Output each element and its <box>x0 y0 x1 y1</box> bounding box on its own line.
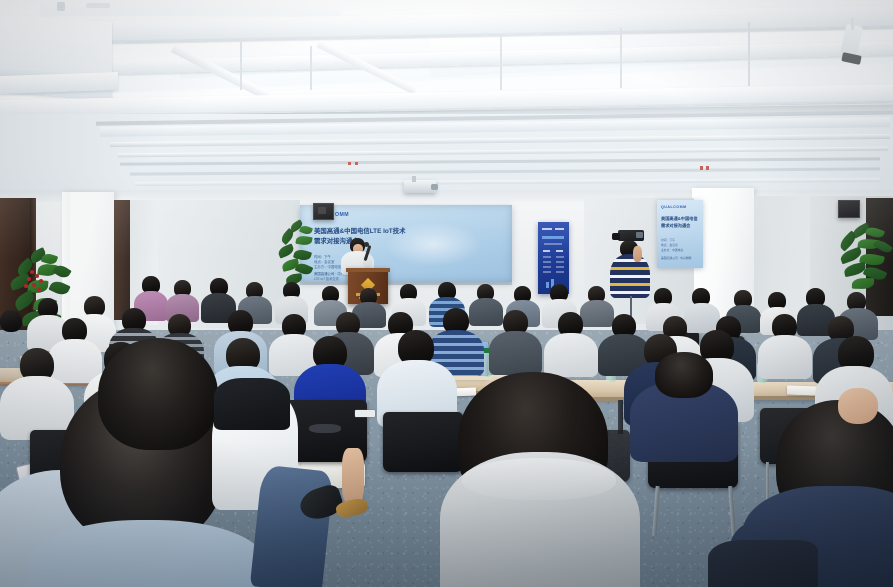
plant-berry <box>35 274 39 278</box>
table-leg <box>618 400 623 434</box>
audience-torso <box>469 298 503 326</box>
plant-berry <box>37 288 41 292</box>
ceiling <box>0 0 893 215</box>
cameraman-torso <box>610 254 650 298</box>
screen-body-3: 主办方：中国电信 <box>314 265 341 269</box>
audience-torso <box>214 378 290 430</box>
foreground-trousers <box>708 540 818 587</box>
plant-berry <box>24 284 28 288</box>
foreground-denim <box>250 465 334 587</box>
chair-label-tag <box>355 410 375 417</box>
side-display-screen: QUALCOMM 美国高通&中国电信 需求对接沟通会 时间：下午 地点：会议室 … <box>657 200 703 268</box>
ceiling-fitting <box>57 2 65 11</box>
wall-speaker-right-icon <box>838 200 860 218</box>
foreground-person-head <box>98 338 218 450</box>
conference-room-photo: QUALCOMM 美国高通&中国电信LTE IoT技术 需求对接沟通会 时间：下… <box>0 0 893 587</box>
audience-torso <box>580 300 614 327</box>
side-screen-logo: QUALCOMM <box>661 205 687 209</box>
plant-berry <box>32 283 36 287</box>
cameraman-arm <box>633 246 642 262</box>
audience-torso <box>489 331 542 375</box>
plant-berry <box>30 270 34 274</box>
chair[interactable] <box>383 412 463 472</box>
cameraman <box>605 232 653 298</box>
camera-lens <box>612 233 620 240</box>
potted-plant-right <box>838 226 893 298</box>
audience-torso <box>758 335 812 379</box>
side-screen-body1: 时间：下午 <box>661 238 675 242</box>
screen-title-line1: 美国高通&中国电信LTE IoT技术 <box>314 227 405 236</box>
plant-berry <box>39 279 43 283</box>
ceiling-fitting <box>86 3 110 8</box>
audience-torso <box>544 333 598 377</box>
side-screen-body3: 主办方：中国电信 <box>661 248 683 252</box>
potted-plant-center <box>278 222 318 294</box>
paper-sheet <box>787 385 817 395</box>
side-screen-title2: 需求对接沟通会 <box>661 223 690 229</box>
hoodie-hood <box>462 458 616 500</box>
wood-wall-left-inner <box>114 200 130 320</box>
projector-lens <box>431 184 438 190</box>
side-screen-body4: 美国高通公司 · 中兴物联 <box>661 256 691 260</box>
audience-head <box>0 310 22 332</box>
plant-berry <box>27 277 31 281</box>
leg-skin <box>342 448 364 504</box>
camera-screen <box>636 232 643 238</box>
side-screen-body2: 地点：会议室 <box>661 243 678 247</box>
audience-head <box>655 352 713 398</box>
hand-skin <box>838 388 878 424</box>
audience-torso <box>684 303 720 333</box>
roll-up-banner <box>538 222 569 294</box>
side-screen-title1: 美国高通&中国电信 <box>661 216 698 222</box>
